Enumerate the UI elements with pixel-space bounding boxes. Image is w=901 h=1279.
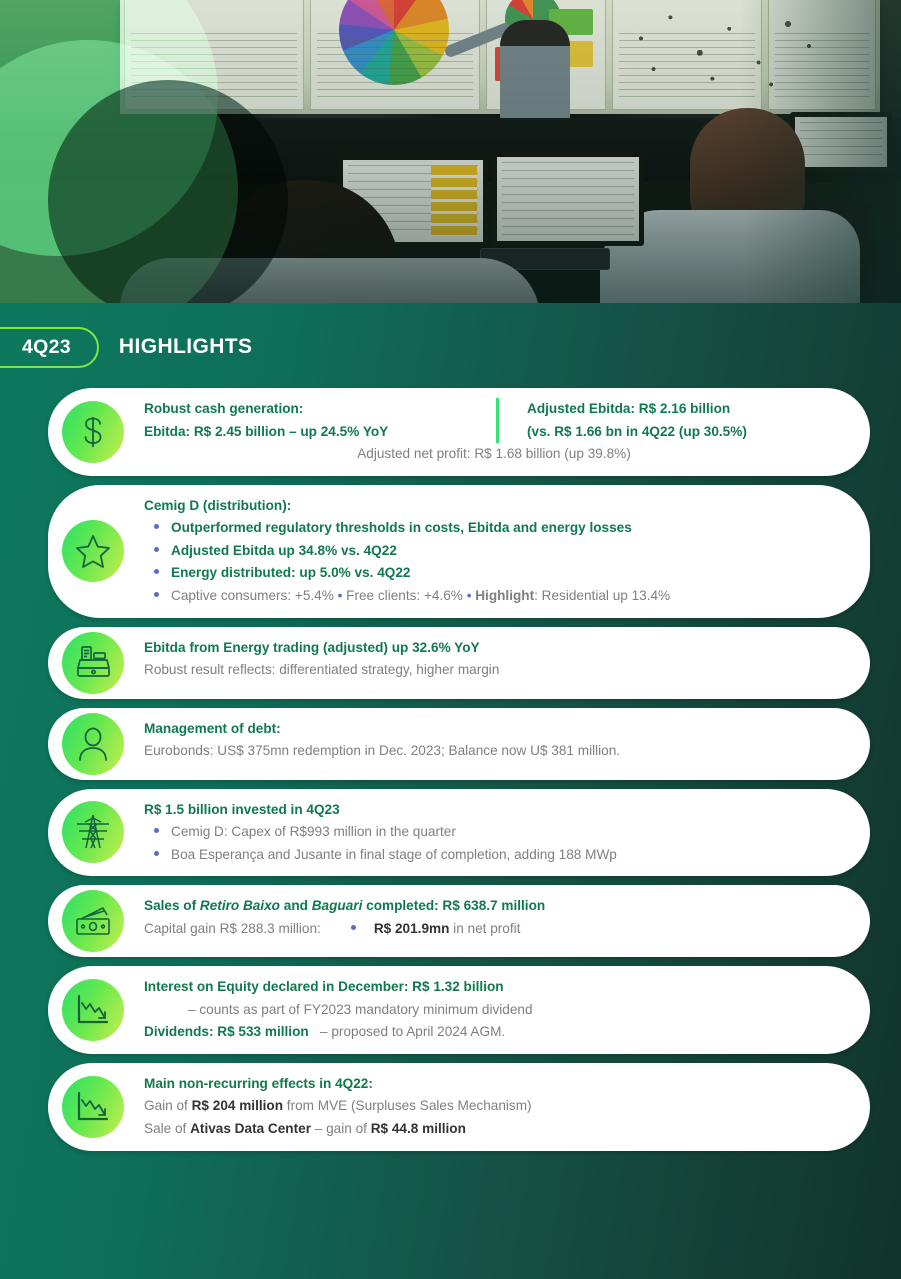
bullet-text: Energy distributed: up 5.0% vs. 4Q22: [171, 562, 410, 585]
transmission-tower-icon: [62, 801, 124, 863]
highlight-card-non-recurring: Main non-recurring effects in 4Q22: Gain…: [48, 1063, 870, 1151]
slide-root: 4Q23 HIGHLIGHTS Robust cash generation: …: [0, 0, 901, 1279]
bullet-item-sub: Captive consumers: +5.4% • Free clients:…: [144, 585, 844, 608]
card-heading: Main non-recurring effects in 4Q22:: [144, 1073, 844, 1096]
column-left: Robust cash generation: Ebitda: R$ 2.45 …: [144, 398, 496, 443]
highlight-card-dividends: Interest on Equity declared in December:…: [48, 966, 870, 1054]
card-line: Capital gain R$ 288.3 million:: [144, 918, 321, 941]
bullet-item: Cemig D: Capex of R$993 million in the q…: [144, 821, 844, 844]
cash-register-icon: [62, 632, 124, 694]
bullet-dot-icon: [154, 524, 159, 529]
card-content: Management of debt: Eurobonds: US$ 375mn…: [144, 718, 844, 763]
page-title: HIGHLIGHTS: [119, 335, 253, 359]
card-line: Robust result reflects: differentiated s…: [144, 659, 844, 682]
card-line: Robust cash generation:: [144, 398, 496, 421]
card-line: – counts as part of FY2023 mandatory min…: [144, 999, 844, 1022]
card-content: Main non-recurring effects in 4Q22: Gain…: [144, 1073, 844, 1141]
card-heading: Sales of Retiro Baixo and Baguari comple…: [144, 895, 844, 918]
dark-circle-overlay: [48, 80, 288, 303]
bullet-text: Outperformed regulatory thresholds in co…: [171, 517, 632, 540]
column-right: Adjusted Ebitda: R$ 2.16 billion (vs. R$…: [496, 398, 747, 443]
highlight-card-investments: R$ 1.5 billion invested in 4Q23 Cemig D:…: [48, 789, 870, 877]
declining-chart-icon: [62, 979, 124, 1041]
card-content: Cemig D (distribution): Outperformed reg…: [144, 495, 844, 608]
card-heading: Ebitda from Energy trading (adjusted) up…: [144, 637, 844, 660]
bullet-dot-icon: [154, 828, 159, 833]
dollar-sign-icon: [62, 401, 124, 463]
bullet-item: Outperformed regulatory thresholds in co…: [144, 517, 844, 540]
bullet-dot-icon: [154, 592, 159, 597]
card-line: Eurobonds: US$ 375mn redemption in Dec. …: [144, 740, 844, 763]
card-footer-line: Dividends: R$ 533 million – proposed to …: [144, 1021, 844, 1044]
highlight-card-energy-trading: Ebitda from Energy trading (adjusted) up…: [48, 627, 870, 699]
card-content: Interest on Equity declared in December:…: [144, 976, 844, 1044]
two-column-row: Robust cash generation: Ebitda: R$ 2.45 …: [144, 398, 844, 443]
card-line: Gain of R$ 204 million from MVE (Surplus…: [144, 1095, 844, 1118]
card-line-row: Capital gain R$ 288.3 million: R$ 201.9m…: [144, 918, 844, 941]
bullet-item: Boa Esperança and Jusante in final stage…: [144, 844, 844, 867]
highlight-card-debt-management: Management of debt: Eurobonds: US$ 375mn…: [48, 708, 870, 780]
card-line: Adjusted Ebitda: R$ 2.16 billion: [527, 398, 747, 421]
declining-chart-icon: [62, 1076, 124, 1138]
card-line: R$ 201.9mn in net profit: [374, 918, 521, 941]
star-icon: [62, 520, 124, 582]
bullet-dot-icon: [154, 569, 159, 574]
bullet-dot-icon: [154, 547, 159, 552]
bullet-item: Adjusted Ebitda up 34.8% vs. 4Q22: [144, 540, 844, 563]
card-content: R$ 1.5 billion invested in 4Q23 Cemig D:…: [144, 799, 844, 867]
card-line: Ebitda: R$ 2.45 billion – up 24.5% YoY: [144, 421, 496, 444]
person-icon: [62, 713, 124, 775]
bullet-item: Energy distributed: up 5.0% vs. 4Q22: [144, 562, 844, 585]
hero-photo-banner: [0, 0, 901, 303]
bullet-text: Adjusted Ebitda up 34.8% vs. 4Q22: [171, 540, 397, 563]
highlight-card-cash-generation: Robust cash generation: Ebitda: R$ 2.45 …: [48, 388, 870, 476]
highlights-card-list: Robust cash generation: Ebitda: R$ 2.45 …: [48, 388, 870, 1160]
card-heading: R$ 1.5 billion invested in 4Q23: [144, 799, 844, 822]
highlight-card-cemig-d: Cemig D (distribution): Outperformed reg…: [48, 485, 870, 618]
bullet-dot-icon: [154, 851, 159, 856]
photo-edge-fade: [741, 0, 901, 303]
card-heading: Interest on Equity declared in December:…: [144, 976, 844, 999]
card-content: Ebitda from Energy trading (adjusted) up…: [144, 637, 844, 682]
bullet-dot-icon: [351, 925, 356, 930]
section-header: 4Q23 HIGHLIGHTS: [0, 326, 252, 368]
card-line: (vs. R$ 1.66 bn in 4Q22 (up 30.5%): [527, 421, 747, 444]
bullet-text: Boa Esperança and Jusante in final stage…: [171, 844, 617, 867]
quarter-badge: 4Q23: [0, 327, 99, 368]
card-line: Sale of Ativas Data Center – gain of R$ …: [144, 1118, 844, 1141]
bullet-text: Cemig D: Capex of R$993 million in the q…: [171, 821, 456, 844]
sub-bullet-text: Captive consumers: +5.4% • Free clients:…: [171, 585, 670, 608]
card-heading: Management of debt:: [144, 718, 844, 741]
card-content: Robust cash generation: Ebitda: R$ 2.45 …: [144, 398, 844, 466]
card-footer-line: Adjusted net profit: R$ 1.68 billion (up…: [144, 443, 844, 466]
card-content: Sales of Retiro Baixo and Baguari comple…: [144, 895, 844, 940]
banknote-icon: [62, 890, 124, 952]
card-heading: Cemig D (distribution):: [144, 495, 844, 518]
highlight-card-asset-sales: Sales of Retiro Baixo and Baguari comple…: [48, 885, 870, 957]
